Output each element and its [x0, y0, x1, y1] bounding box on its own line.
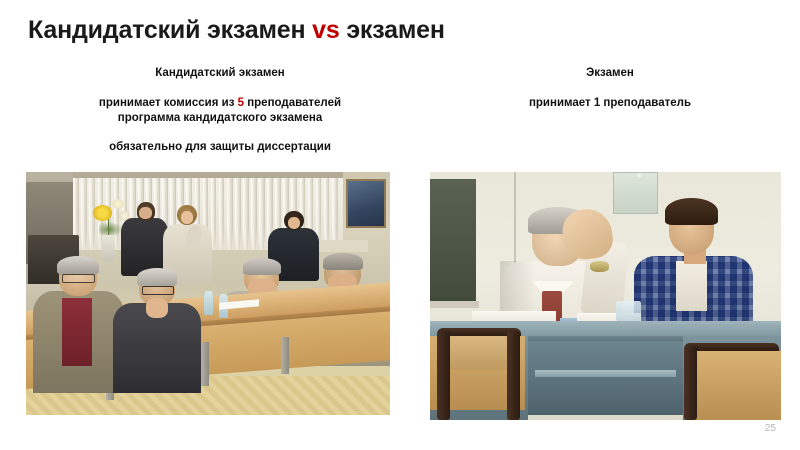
spacer: [40, 81, 400, 96]
left-column-heading: Кандидатский экзамен: [40, 66, 400, 81]
chair-frame-top: [684, 343, 779, 350]
title-text-part1: Кандидатский экзамен: [28, 16, 312, 44]
right-text-column: Экзамен принимает 1 преподаватель: [430, 66, 790, 111]
chair-frame-bar: [437, 331, 450, 420]
right-column-heading: Экзамен: [430, 66, 790, 81]
wooden-chair-left-back: [441, 336, 511, 371]
standing-person-face: [139, 207, 152, 219]
student-hair: [665, 198, 718, 225]
photo-left-content: [26, 172, 390, 415]
committee-member-1-hair: [57, 256, 99, 275]
title-vs-accent: vs: [312, 16, 339, 44]
spacer: [40, 126, 400, 140]
glasses-icon: [142, 286, 173, 295]
yellow-flower: [93, 205, 112, 221]
left-line1-prefix: принимает комиссия из: [99, 97, 238, 109]
committee-member-4-hair: [323, 253, 363, 270]
glasses-icon: [62, 274, 95, 283]
standing-woman-face: [181, 211, 193, 224]
photo-right-content: [430, 172, 781, 420]
committee-member-2-hand: [146, 298, 168, 317]
left-line1-suffix: преподавателей: [244, 97, 341, 109]
flower-vase: [102, 235, 114, 262]
right-column-line-1: принимает 1 преподаватель: [430, 96, 790, 111]
table-leg: [201, 342, 209, 386]
wooden-chair-right: [690, 351, 781, 420]
back-person-face: [288, 217, 300, 229]
committee-member-1-shirt: [62, 298, 91, 366]
chair-frame-bar: [684, 346, 697, 420]
photo-committee-exam: [26, 172, 390, 415]
slide-canvas: Кандидатский экзамен vs экзамен Кандидат…: [0, 0, 800, 450]
committee-member-2-hair: [137, 268, 177, 286]
water-bottle: [204, 291, 213, 315]
spacer: [430, 81, 790, 96]
wall-picture: [346, 179, 386, 228]
page-title: Кандидатский экзамен vs экзамен: [28, 16, 445, 45]
student-undershirt: [676, 261, 708, 311]
chair-frame-bar: [507, 331, 520, 420]
left-column-line-2: программа кандидатского экзамена: [40, 111, 400, 126]
wall-panel-inner: [637, 174, 641, 177]
window-frame: [73, 172, 342, 178]
exam-desk-shelf: [535, 370, 675, 376]
left-column-line-1: принимает комиссия из 5 преподавателей: [40, 96, 400, 111]
title-text-part2: экзамен: [340, 16, 445, 44]
wall-panel: [613, 172, 659, 214]
left-text-column: Кандидатский экзамен принимает комиссия …: [40, 66, 400, 155]
photo-single-examiner: [430, 172, 781, 420]
table-leg: [281, 337, 289, 373]
chalkboard: [430, 179, 476, 303]
chalkboard-tray: [430, 301, 479, 308]
exam-desk-front: [528, 341, 682, 415]
page-number: 25: [765, 423, 776, 434]
committee-member-3-hair: [243, 258, 281, 275]
wristwatch: [590, 261, 609, 272]
left-column-line-3: обязательно для защиты диссертации: [40, 140, 400, 155]
